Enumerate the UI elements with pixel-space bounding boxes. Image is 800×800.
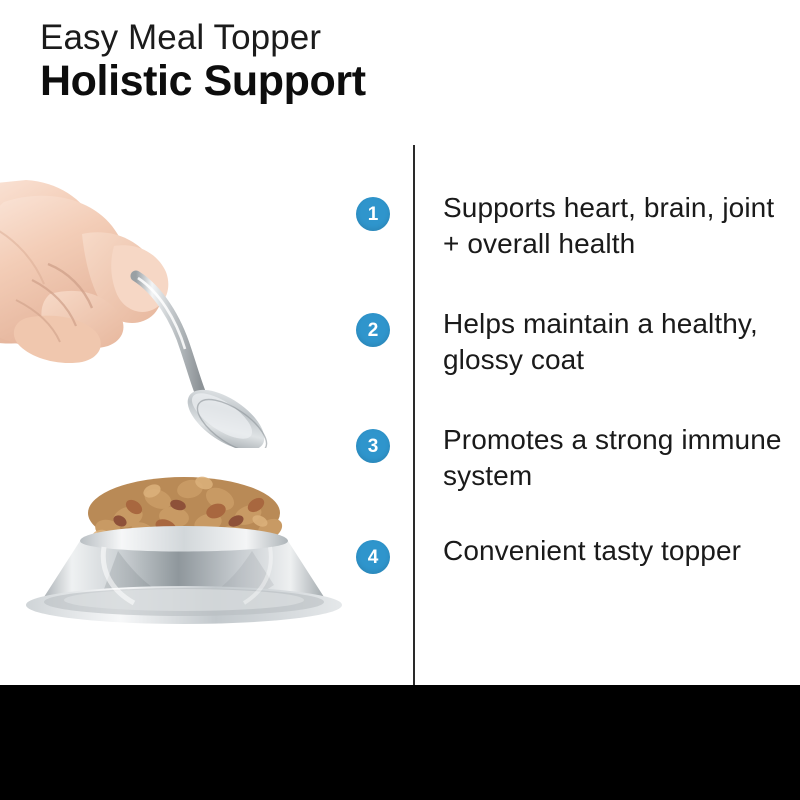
headline-subtitle: Easy Meal Topper — [40, 16, 560, 60]
benefit-item-3: 3 Promotes a strong immune system — [356, 422, 788, 494]
benefit-number-badge-1: 1 — [356, 197, 390, 231]
benefit-text-4: Convenient tasty topper — [443, 533, 788, 569]
headline-title: Holistic Support — [40, 58, 560, 104]
benefit-number-badge-3: 3 — [356, 429, 390, 463]
hand-spoon-photo — [0, 168, 286, 448]
headline-block: Easy Meal Topper Holistic Support — [40, 16, 560, 104]
infographic-page: Easy Meal Topper Holistic Support — [0, 0, 800, 800]
benefit-number-badge-2: 2 — [356, 313, 390, 347]
benefit-number-badge-4: 4 — [356, 540, 390, 574]
benefit-text-1: Supports heart, brain, joint + overall h… — [443, 190, 788, 262]
benefit-item-1: 1 Supports heart, brain, joint + overall… — [356, 190, 788, 262]
benefit-text-3: Promotes a strong immune system — [443, 422, 788, 494]
benefit-text-2: Helps maintain a healthy, glossy coat — [443, 306, 788, 378]
benefit-item-4: 4 Convenient tasty topper — [356, 533, 788, 574]
benefit-item-2: 2 Helps maintain a healthy, glossy coat — [356, 306, 788, 378]
dog-bowl-photo — [8, 455, 358, 630]
footer-band — [0, 685, 800, 800]
